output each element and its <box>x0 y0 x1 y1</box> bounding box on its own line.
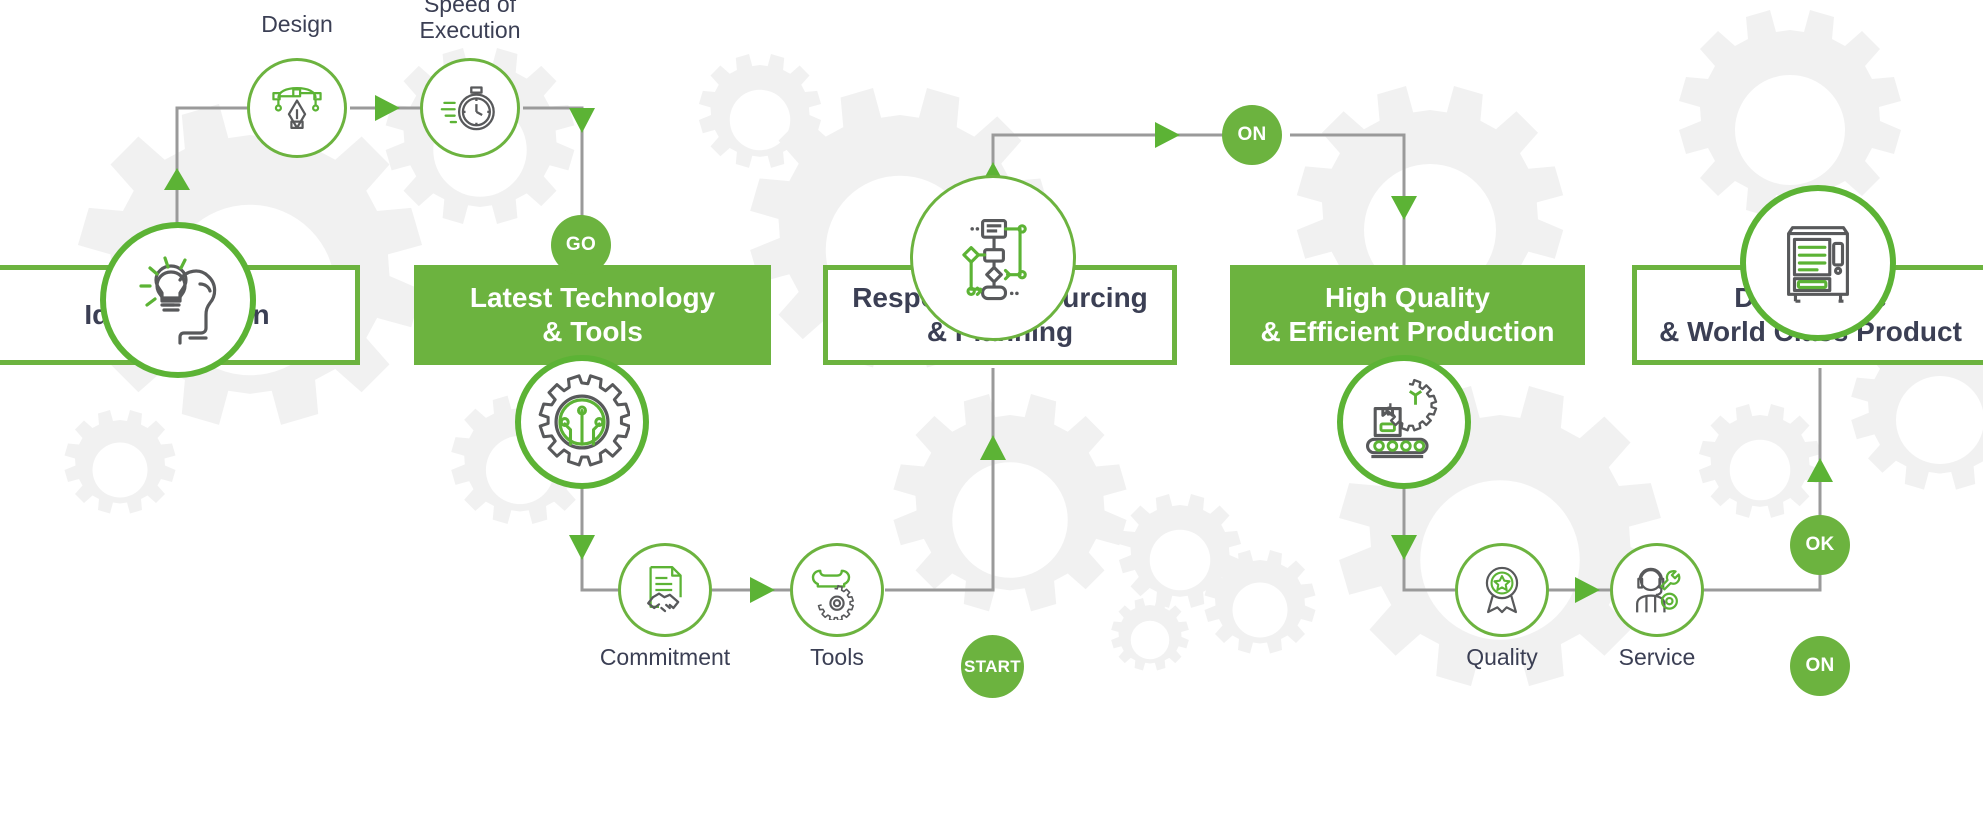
caption-speed-of-execution: Speed of Execution <box>370 0 570 44</box>
tech-chip-gear-icon-circle[interactable] <box>515 355 649 489</box>
stage-box-high-quality[interactable]: High Quality & Efficient Production <box>1230 265 1585 365</box>
pen-tool-icon <box>266 77 328 139</box>
caption-design: Design <box>197 12 397 38</box>
conveyor-gear-icon <box>1356 374 1452 470</box>
caption-tools: Tools <box>737 645 937 671</box>
support-agent-icon <box>1626 559 1688 621</box>
infographic-canvas: Idea & Design Latest Technology & Tools … <box>0 0 1983 834</box>
badge-go[interactable]: GO <box>551 215 611 275</box>
flowchart-icon <box>941 206 1045 310</box>
stage-box-label: Latest Technology & Tools <box>460 281 725 349</box>
idea-head-bulb-icon-circle[interactable] <box>100 222 256 378</box>
handshake-document-icon <box>635 560 695 620</box>
idea-head-bulb-icon <box>128 250 228 350</box>
tools-icon-circle[interactable] <box>790 543 884 637</box>
cabinet-machine-icon-circle[interactable] <box>1740 185 1896 341</box>
quality-icon-circle[interactable] <box>1455 543 1549 637</box>
award-badge-icon <box>1473 561 1531 619</box>
speed-stopwatch-icon-circle[interactable] <box>420 58 520 158</box>
service-icon-circle[interactable] <box>1610 543 1704 637</box>
design-pen-tool-icon-circle[interactable] <box>247 58 347 158</box>
caption-commitment: Commitment <box>565 645 765 671</box>
badge-start[interactable]: START <box>961 635 1024 698</box>
cabinet-machine-icon <box>1769 214 1867 312</box>
tech-chip-gear-icon <box>534 374 630 470</box>
stage-box-label: High Quality & Efficient Production <box>1251 281 1565 349</box>
badge-on-right[interactable]: ON <box>1790 636 1850 696</box>
wrench-gear-icon <box>807 560 867 620</box>
stopwatch-icon <box>438 76 502 140</box>
badge-ok[interactable]: OK <box>1790 515 1850 575</box>
stage-box-latest-technology[interactable]: Latest Technology & Tools <box>414 265 771 365</box>
flowchart-icon-circle[interactable] <box>910 175 1076 341</box>
commitment-icon-circle[interactable] <box>618 543 712 637</box>
caption-service: Service <box>1557 645 1757 671</box>
badge-on-top[interactable]: ON <box>1222 105 1282 165</box>
conveyor-gear-icon-circle[interactable] <box>1337 355 1471 489</box>
